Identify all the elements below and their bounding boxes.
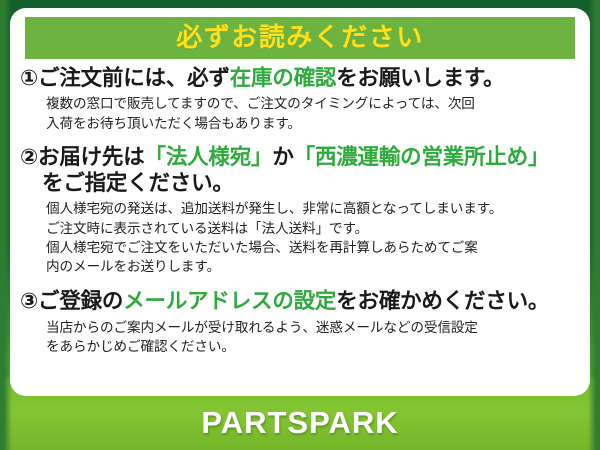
item-2-text-a: お届け先は bbox=[38, 145, 145, 170]
item-1-body-line-2: 入荷をお待ち頂いただく場合もあります。 bbox=[46, 115, 582, 134]
item-3-body-line-2: をあらかじめご確認ください。 bbox=[46, 338, 582, 357]
item-number-2: ② bbox=[20, 145, 38, 170]
item-2-body-line-1: 個人様宅宛の発送は、追加送料が発生し、非常に高額となってしまいます。 bbox=[46, 200, 582, 219]
item-2-body-line-3: 個人様宅宛でご注文をいただいた場合、送料を再計算しあらためてご案 bbox=[46, 239, 582, 258]
notice-card: 必ずお読みください ①ご注文前には、必ず在庫の確認をお願いします。 複数の窓口で… bbox=[10, 8, 590, 396]
item-1-text-b: をお願いします。 bbox=[336, 66, 504, 91]
item-number-1: ① bbox=[20, 66, 38, 91]
item-1-highlight: 在庫の確認 bbox=[230, 66, 337, 91]
notice-item-3-body: 当店からのご案内メールが受け取れるよう、迷惑メールなどの受信設定 をあらかじめご… bbox=[20, 319, 582, 358]
footer-logo-bar: PARTSPARK bbox=[0, 396, 600, 450]
notice-item-1-headline: ①ご注文前には、必ず在庫の確認をお願いします。 bbox=[20, 66, 582, 92]
notice-item-3-headline: ③ご登録のメールアドレスの設定をお確かめください。 bbox=[20, 289, 582, 315]
notice-item-1-body: 複数の窓口で販売してますので、ご注文のタイミングによっては、次回 入荷をお待ち頂… bbox=[20, 95, 582, 134]
item-3-text-a: ご登録の bbox=[38, 289, 123, 314]
item-2-body-line-4: 内のメールをお送りします。 bbox=[46, 258, 582, 277]
notice-item-2-headline-line2: をご指定ください。 bbox=[20, 171, 582, 197]
header-bar: 必ずお読みください bbox=[25, 17, 575, 59]
item-2-body-line-2: ご注文時に表示されている送料は「法人送料」です。 bbox=[46, 220, 582, 239]
page-title: 必ずお読みください bbox=[176, 25, 424, 51]
item-3-text-b: をお確かめください。 bbox=[336, 289, 549, 314]
item-number-3: ③ bbox=[20, 289, 38, 314]
item-1-body-line-1: 複数の窓口で販売してますので、ご注文のタイミングによっては、次回 bbox=[46, 95, 582, 114]
item-2-highlight-1: 「法人様宛」 bbox=[145, 145, 273, 170]
item-3-highlight: メールアドレスの設定 bbox=[123, 289, 336, 314]
notice-banner: 必ずお読みください ①ご注文前には、必ず在庫の確認をお願いします。 複数の窓口で… bbox=[0, 0, 600, 450]
item-2-text-b: か bbox=[272, 145, 293, 170]
notice-item-2: ②お届け先は「法人様宛」か「西濃運輸の営業所止め」 をご指定ください。 個人様宅… bbox=[20, 145, 582, 278]
notice-item-3: ③ご登録のメールアドレスの設定をお確かめください。 当店からのご案内メールが受け… bbox=[20, 289, 582, 357]
item-2-highlight-2: 「西濃運輸の営業所止め」 bbox=[294, 145, 550, 170]
partspark-logo: PARTSPARK bbox=[201, 405, 398, 441]
notice-item-1: ①ご注文前には、必ず在庫の確認をお願いします。 複数の窓口で販売してますので、ご… bbox=[20, 66, 582, 134]
notice-content: ①ご注文前には、必ず在庫の確認をお願いします。 複数の窓口で販売してますので、ご… bbox=[10, 64, 590, 359]
notice-item-2-body: 個人様宅宛の発送は、追加送料が発生し、非常に高額となってしまいます。 ご注文時に… bbox=[20, 200, 582, 277]
notice-item-2-headline: ②お届け先は「法人様宛」か「西濃運輸の営業所止め」 bbox=[20, 145, 582, 171]
item-1-text-a: ご注文前には、必ず bbox=[38, 66, 230, 91]
item-3-body-line-1: 当店からのご案内メールが受け取れるよう、迷惑メールなどの受信設定 bbox=[46, 319, 582, 338]
